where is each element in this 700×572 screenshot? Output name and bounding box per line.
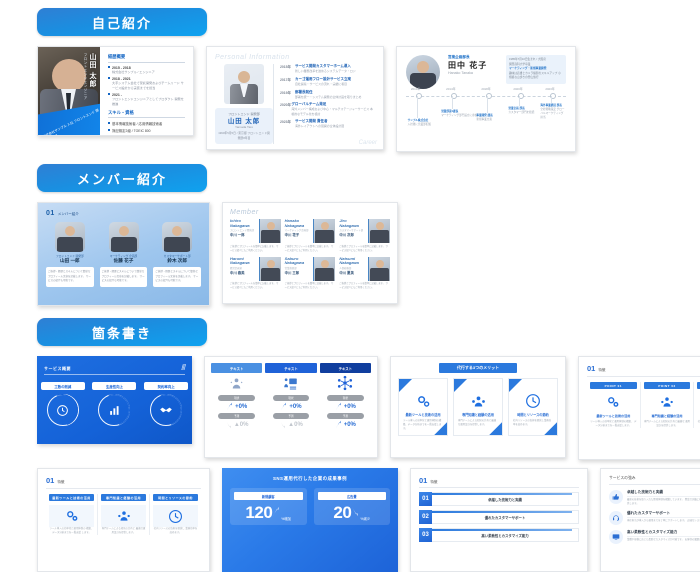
- card-number: 01: [419, 476, 427, 485]
- slide-card-personal-information[interactable]: Personal Information フロントエンド 開発部 山田 太郎 Y…: [206, 46, 384, 150]
- resume-history-item: 2015 - 2018 株式会社サンプル / エンジニア: [108, 66, 185, 75]
- handshake-icon: [150, 394, 182, 426]
- member-photo: [313, 257, 335, 281]
- metric-column[interactable]: テキスト 現状 +0% 予測 +0%: [320, 363, 371, 451]
- item-text: 高い柔軟性とカスタマイズ能力: [436, 533, 574, 538]
- column-header: テキスト: [265, 363, 316, 373]
- timeline-desc: 新しい業務改革を進めるシステムデータ・ロジ: [295, 69, 356, 73]
- watermark-title: Member: [230, 209, 390, 216]
- member-name-en: Ichiro Nakagawa: [230, 219, 257, 228]
- card-heading: 01特徴: [419, 476, 579, 488]
- history-text: 株式会社サンプル / エンジニア: [108, 70, 185, 75]
- point-column[interactable]: POINT 02 専門知識と経験の活用 専門チームによる知見の共有と最適な 運用…: [640, 382, 694, 428]
- member-grid-entry[interactable]: Hanako Nakagawa マーケティング企画部 中川 花子 ご挨拶とプロフ…: [285, 219, 336, 253]
- arrow-up-icon: [226, 402, 233, 411]
- gear-people-icon: [229, 373, 244, 393]
- member-name-ja: 中川 三郎: [285, 270, 312, 275]
- member-photo: [313, 219, 335, 243]
- slide-row-3: サービス概要 /// 工数の削減 生産性向上 契約率向上: [0, 356, 700, 460]
- slide-card-members-three[interactable]: 01メンバー紹介 フロントエンド 開発部 山田 一郎 ご挨拶・経歴とスキルについ…: [37, 202, 210, 306]
- member-photo: [55, 222, 85, 252]
- section-header-member-intro: メンバー紹介: [37, 164, 207, 192]
- member-photo: [109, 222, 139, 252]
- member-name-ja: 中川 花子: [285, 232, 312, 237]
- member-desc: ご挨拶・経歴とスキルについて簡単なプロフィール文章を記載します。 サービスの紹介…: [153, 267, 201, 287]
- slide-card-member-grid[interactable]: Member Ichiro Nakagawa フロントエンド開発部 中川 一郎 …: [222, 202, 398, 304]
- merit-box[interactable]: 専門知識と経験の活用 専門チームによる知見の共有と最適な運用設計を提供します。: [453, 378, 503, 436]
- card-title: 代行する3つのメリット: [439, 363, 517, 373]
- credit-watermark: Career: [359, 140, 377, 146]
- point-text: 専門チームによる知見の共有と最適な 運用設計を提供します。: [644, 420, 691, 428]
- section-header-label: メンバー紹介: [77, 169, 167, 188]
- item-number: 02: [419, 510, 432, 524]
- timeline-year: 2020年: [280, 102, 291, 116]
- card-heading: 01特徴: [587, 364, 700, 377]
- slide-card-career-timeline[interactable]: 営業企画部長 田中 花子 Hanako Tanaka 1985年7月10日生まれ…: [396, 46, 576, 152]
- metric-pill: 現状: [327, 395, 364, 401]
- section-header-label: 箇条書き: [92, 323, 152, 342]
- member-item[interactable]: カスタマーサポート部 鈴木 次郎 ご挨拶・経歴とスキルについて簡単なプロフィール…: [153, 222, 201, 287]
- merit-heading: 最新ツールと技術の活用: [403, 412, 443, 417]
- people-gear-icon: [644, 393, 691, 410]
- skill-item: 基本情報技術者 / 応用情報技術者: [108, 122, 162, 126]
- slide-row-4: 01特徴 最新ツールと技術の活用 ツール導入の効率化と運用体制の 構築、データ分…: [0, 468, 700, 572]
- arrow-down-icon: [351, 506, 359, 517]
- member-photo: [259, 257, 281, 281]
- network-icon: [337, 373, 353, 393]
- monitor-icon: [609, 530, 623, 544]
- resume-history-item: 2021 - フロントエンドエンジニアとしてプロダクト 開発を推進: [108, 93, 185, 106]
- profile-meta: 1990年5月5日 / 東京都 フロントエンド開発歴8年目: [217, 131, 271, 141]
- profile-note-box: 1985年7月10日生まれ / 大阪府 関西商科大学卒業 マーケティング・新規事…: [506, 55, 566, 84]
- people-gear-icon: [101, 505, 146, 527]
- name-en: Yamada Taro: [217, 125, 271, 129]
- timeline-year: 2017年: [280, 77, 295, 86]
- feature-text: ツール導入の効率化と運用体制の 構築、データ分析までを一貫支援 します。: [49, 527, 94, 535]
- metric-value: ▲0%: [279, 420, 303, 429]
- strength-heading: 卓越した技術力と実績: [627, 490, 700, 497]
- point-column[interactable]: POINT 03 時間とリソースの節約 社内リソースの負担を軽減し 業務効率を高…: [693, 382, 700, 428]
- feature-column[interactable]: 最新ツールと技術の活用 ツール導入の効率化と運用体制の 構築、データ分析までを一…: [46, 494, 97, 535]
- member-photo: [368, 219, 390, 243]
- feature-column[interactable]: 専門知識と経験の活用 専門チームによる知見の共有と 最適な運用設計を提供します。: [97, 494, 149, 535]
- metric-pill: 現状: [273, 395, 310, 401]
- timeline-year: 2015年: [280, 64, 295, 73]
- list-item[interactable]: 03 高い柔軟性とカスタマイズ能力: [419, 528, 579, 542]
- card-title: サービスの強み: [609, 476, 700, 485]
- stat-box[interactable]: 新規顧客 120 %増加: [230, 488, 307, 525]
- member-name-ja: 中川 夏美: [339, 270, 366, 275]
- metric-pill: 予測: [327, 413, 364, 419]
- strength-heading: 優れたカスタマーサポート: [627, 511, 700, 518]
- history-text: フロントエンドエンジニアとしてプロダクト 開発を推進: [108, 97, 185, 106]
- axis-year: 2020年: [513, 87, 522, 91]
- member-desc: ご挨拶とプロフィールを簡単に記載します。 サービス紹介にもご利用ください。: [339, 245, 390, 253]
- member-desc: ご挨拶とプロフィールを簡単に記載します。 サービス紹介にもご利用ください。: [339, 282, 390, 290]
- card-heading: 01特徴: [46, 476, 201, 489]
- skill-item: HTML / JavaScript / 各種フレーム: [108, 135, 163, 136]
- resume-panel: 経歴概要 2015 - 2018 株式会社サンプル / エンジニア 2018 -…: [100, 47, 193, 135]
- slide-card-feature-points[interactable]: 01特徴 POINT 01 最新ツールと技術の活用 ツール導入の効率化と運用体制…: [578, 356, 700, 460]
- member-name-en: Hanako Nakagawa: [285, 219, 312, 228]
- stat-value: 120: [245, 505, 272, 521]
- strength-item[interactable]: 卓越した技術力と実績 最新の技術を取り入れた開発体制を構築しています。 豊富な実…: [609, 490, 700, 507]
- timeline-entry: 2019年 部署長就任部署を統一・システム開発の全体計画を取りまとめ: [280, 90, 375, 99]
- avatar: [406, 55, 440, 89]
- merit-heading: 専門知識と経験の活用: [458, 412, 498, 417]
- metric-value: ▲0%: [225, 420, 249, 429]
- section-header-bullets: 箇条書き: [37, 318, 207, 346]
- member-name: 佐藤 花子: [100, 258, 148, 264]
- vertical-name: 山田 太郎: [87, 53, 97, 88]
- stat-unit: %減少: [360, 516, 370, 521]
- slide-card-three-metrics[interactable]: テキスト 現状 +0% 予測 ▲0% テキスト: [204, 356, 378, 458]
- member-name-en: Natsumi Nakagawa: [339, 257, 366, 266]
- card-title: SNS運用代行した企業の成果事例: [230, 476, 390, 482]
- card-heading: 01メンバー紹介: [46, 210, 201, 217]
- strength-item[interactable]: 優れたカスタマーサポート 専任担当が導入から運用までを丁寧にサポートします。 迅…: [609, 511, 700, 525]
- stat-label: 広告費: [318, 492, 387, 500]
- slide-row-2: 01メンバー紹介 フロントエンド 開発部 山田 一郎 ご挨拶・経歴とスキルについ…: [0, 202, 700, 306]
- member-desc: ご挨拶とプロフィールを簡単に記載します。 サービス紹介にもご利用ください。: [230, 245, 281, 253]
- profile-photo: フロントエンドエンジニア 山田 太郎 株式会社サンプル 入社 フロントエンド 開…: [38, 47, 100, 135]
- member-name-ja: 中川 春美: [230, 270, 257, 275]
- column-header: テキスト: [320, 363, 371, 373]
- resume-section-title-1: 経歴概要: [108, 54, 185, 63]
- member-grid-entry[interactable]: Ichiro Nakagawa フロントエンド開発部 中川 一郎 ご挨拶とプロフ…: [230, 219, 281, 253]
- member-item[interactable]: フロントエンド 開発部 山田 一郎 ご挨拶・経歴とスキルについて簡単なプロフィー…: [46, 222, 94, 287]
- member-item[interactable]: マーケティング 企画部 佐藤 花子 ご挨拶・経歴とスキルについて簡単なプロフィー…: [100, 222, 148, 287]
- name-ja: 田中 花子: [448, 60, 487, 71]
- item-label: 契約率向上: [144, 382, 188, 390]
- clock-icon: [153, 505, 198, 527]
- axis-year: 2018年: [481, 87, 490, 91]
- timeline-entry: 2017年 カーゴ運用フロー設計サービス立案自社提案・サービスの流れ・実績に着目: [280, 77, 375, 86]
- timeline-event: 営業部第1課長マーケティング部門設立に参加: [441, 110, 477, 118]
- people-gear-icon: [458, 393, 498, 409]
- member-grid-entry[interactable]: Saburo Nakagawa 営業推進部 中川 三郎 ご挨拶とプロフィールを簡…: [285, 257, 336, 291]
- timeline-entry: 2015年 サービス開発カスタマーホーム導入新しい業務改革を進めるシステムデータ…: [280, 64, 375, 73]
- point-text: ツール導入の効率化と運用体制の構築、 データ分析までを一貫支援します。: [590, 420, 637, 428]
- profile-photo: [224, 64, 264, 104]
- merit-heading: 時間とリソースの節約: [513, 412, 553, 417]
- note-line: 趣味は読書とカメラ撮影のスキルアップ 小規模な山歩きの登山旅行: [509, 72, 563, 81]
- slide-card-numbered-list[interactable]: 01特徴 01 卓越した技術力と実績 02 優れたカスタマーサポート 03 高い…: [410, 468, 588, 572]
- point-column[interactable]: POINT 01 最新ツールと技術の活用 ツール導入の効率化と運用体制の構築、 …: [587, 382, 640, 428]
- timeline-event: 事業開発 課長新規事業立案: [476, 114, 492, 122]
- resume-section-title-2: スキル・資格: [108, 110, 185, 119]
- timeline-axis: 2010年 2014年 2018年 2020年 2023年 サンプル株式会社入社…: [406, 96, 566, 128]
- merit-box[interactable]: 最新ツールと技術の活用 ツール導入の効率化と運用体制の構築、データ分析までを一貫…: [398, 378, 448, 436]
- summary-item[interactable]: 契約率向上: [144, 382, 188, 426]
- member-desc: ご挨拶・経歴とスキルについて簡単なプロフィール文章を記載します。 サービスの紹介…: [100, 267, 148, 287]
- slide-card-sns-results[interactable]: SNS運用代行した企業の成果事例 新規顧客 120 %増加 広告費 20 %減: [222, 468, 398, 572]
- point-tag: POINT 02: [644, 382, 691, 389]
- metric-pill: 現状: [218, 395, 255, 401]
- gear-icon: [49, 505, 94, 527]
- resume-history-item: 2018 - 2021 大手システム会社で受託開発およびチームリード サービス設…: [108, 77, 185, 90]
- merit-text: ツール導入の効率化と運用体制の構築、データ分析までを一貫支援します。: [403, 419, 443, 431]
- strength-item[interactable]: 高い柔軟性とカスタマイズ能力 業種や規模に応じた柔軟なカスタマイズが可能です。 …: [609, 530, 700, 544]
- thumbs-up-icon: [609, 490, 623, 504]
- feature-column[interactable]: 時間とリソースの節約 社内リソースの負担を軽減し 業務効率を高めます。: [149, 494, 201, 535]
- metric-value: +0%: [226, 402, 247, 411]
- merit-text: 専門チームによる知見の共有と最適な運用設計を提供します。: [458, 419, 498, 427]
- member-name-en: Harumi Nakagawa: [230, 257, 257, 266]
- resume-skills: 基本情報技術者 / 応用情報技術者 簿記検定2級 / TOEIC 800 HTM…: [108, 121, 185, 136]
- card-number: 01: [46, 210, 55, 217]
- slide-card-service-summary[interactable]: サービス概要 /// 工数の削減 生産性向上 契約率向上: [37, 356, 192, 444]
- member-photo: [259, 219, 281, 243]
- decorative-slashes: ///: [181, 363, 185, 372]
- member-desc: ご挨拶とプロフィールを簡単に記載します。 サービス紹介にもご利用ください。: [285, 282, 336, 290]
- card-number: 01: [46, 476, 54, 485]
- timeline-desc: 部署を統一・システム開発の全体計画を取りまとめ: [295, 95, 361, 99]
- card-title: サービス概要: [44, 366, 71, 372]
- metric-column[interactable]: テキスト 現状 +0% 予測 ▲0%: [211, 363, 262, 451]
- arrow-up-icon: [280, 402, 287, 411]
- arrow-down-icon: [225, 420, 232, 429]
- timeline-event: サンプル株式会社入社後に営業部配属: [408, 119, 431, 127]
- timeline-desc: 海外レイアウトへの展開の全体設計図: [295, 124, 344, 128]
- merit-text: 社内リソースの負担を軽減し業務効率を高めます。: [513, 419, 553, 427]
- point-tag: POINT 01: [590, 382, 637, 389]
- section-header-self-intro: 自己紹介: [37, 8, 207, 36]
- timeline-event: 海外事業統括 部長全社戦略策定 グローバルマーケティング担当: [540, 104, 566, 121]
- stat-label: 新規顧客: [234, 492, 303, 500]
- member-name-ja: 中川 次郎: [339, 232, 366, 237]
- clock-icon: [513, 393, 553, 409]
- item-text: 優れたカスタマーサポート: [436, 515, 574, 520]
- member-name: 鈴木 次郎: [153, 258, 201, 264]
- slide-card-profile-resume[interactable]: フロントエンドエンジニア 山田 太郎 株式会社サンプル 入社 フロントエンド 開…: [37, 46, 194, 136]
- card-label: メンバー紹介: [58, 212, 79, 216]
- metric-column[interactable]: テキスト 現状 +0% 予測 ▲0%: [265, 363, 316, 451]
- bar-chart-icon: [98, 394, 130, 426]
- name-ja: 山田 太郎: [217, 116, 271, 125]
- item-number: 03: [419, 528, 432, 542]
- item-label: 工数の削減: [41, 382, 85, 390]
- support-icon: [609, 511, 623, 525]
- merit-box[interactable]: 時間とリソースの節約 社内リソースの負担を軽減し業務効率を高めます。: [508, 378, 558, 436]
- gear-icon: [403, 393, 443, 409]
- strength-heading: 高い柔軟性とカスタマイズ能力: [627, 530, 700, 537]
- column-header: テキスト: [211, 363, 262, 373]
- card-label: 特徴: [57, 480, 64, 484]
- strength-text: 最新の技術を取り入れた開発体制を構築しています。 豊富な実績に基づき、課題のヒア…: [627, 498, 700, 507]
- stat-box[interactable]: 広告費 20 %減少: [314, 488, 391, 525]
- member-name-ja: 中川 一郎: [230, 232, 257, 237]
- member-grid-entry[interactable]: Natsumi Nakagawa 人事総務部 中川 夏美 ご挨拶とプロフィールを…: [339, 257, 390, 291]
- career-timeline-list: 2015年 サービス開発カスタマーホーム導入新しい業務改革を進めるシステムデータ…: [273, 64, 375, 144]
- member-name-en: Jiro Nakagawa: [339, 219, 366, 228]
- clock-icon: [47, 394, 79, 426]
- member-name: 山田 一郎: [46, 258, 94, 264]
- item-label: 生産性向上: [92, 382, 136, 390]
- arrow-up-icon: [335, 402, 342, 411]
- timeline-entry: 2023年 サービス開発 責任者海外レイアウトへの展開の全体設計図: [280, 119, 375, 128]
- feature-text: 専門チームによる知見の共有と 最適な運用設計を提供します。: [101, 527, 146, 535]
- timeline-desc: 自社提案・サービスの流れ・実績に着目: [295, 82, 351, 86]
- strength-text: 業種や規模に応じた柔軟なカスタマイズが可能です。 お客様の課題に合わせて最適な機…: [627, 538, 700, 542]
- timeline-desc: 海外メンバー構成および中心・マルチステージャーサービス 本格的なモデル化を検討: [291, 107, 375, 116]
- history-text: 大手システム会社で受託開発およびチームリード サービス設計から実装までを担当: [108, 81, 185, 90]
- summary-item[interactable]: 工数の削減: [41, 382, 85, 426]
- slide-card-feature-boxed[interactable]: 01特徴 最新ツールと技術の活用 ツール導入の効率化と運用体制の 構築、データ分…: [37, 468, 210, 572]
- arrow-up-icon: [335, 420, 342, 429]
- member-grid-entry[interactable]: Jiro Nakagawa カスタマーサポート部 中川 次郎 ご挨拶とプロフィー…: [339, 219, 390, 253]
- metric-value: +0%: [335, 402, 356, 411]
- member-name-en: Saburo Nakagawa: [285, 257, 312, 266]
- card-label: 特徴: [598, 368, 605, 372]
- name-en: Hanako Tanaka: [448, 71, 487, 75]
- stat-value: 20: [333, 505, 351, 521]
- axis-year: 2014年: [446, 87, 455, 91]
- member-grid-entry[interactable]: Harumi Nakagawa 経営企画室 中川 春美 ご挨拶とプロフィールを簡…: [230, 257, 281, 291]
- axis-year: 2023年: [545, 87, 554, 91]
- feature-text: 社内リソースの負担を軽減し 業務効率を高めます。: [153, 527, 198, 535]
- name-card: フロントエンド 開発部 山田 太郎 Yamada Taro 1990年5月5日 …: [215, 108, 273, 144]
- gallery-page: 自己紹介 フロントエンドエンジニア 山田 太郎 株式会社サンプル 入社 フロント…: [0, 0, 700, 500]
- slide-card-three-merits[interactable]: 代行する3つのメリット 最新ツールと技術の活用 ツール導入の効率化と運用体制の構…: [390, 356, 566, 458]
- arrow-up-icon: [272, 506, 280, 517]
- member-desc: ご挨拶・経歴とスキルについて簡単なプロフィール文章を記載します。 サービスの紹介…: [46, 267, 94, 287]
- skill-item: 簿記検定2級 / TOEIC 800: [108, 129, 151, 133]
- point-heading: 最新ツールと技術の活用: [590, 413, 637, 418]
- metric-value: +0%: [335, 420, 356, 429]
- strength-text: 専任担当が導入から運用までを丁寧にサポートします。 迅速なレスポンスと柔軟な対応…: [627, 519, 700, 523]
- card-number: 01: [587, 364, 595, 373]
- item-number: 01: [419, 492, 432, 506]
- section-header-label: 自己紹介: [92, 13, 152, 32]
- timeline-year: 2023年: [280, 119, 295, 128]
- slide-card-strengths[interactable]: サービスの強み 卓越した技術力と実績 最新の技術を取り入れた開発体制を構築してい…: [600, 468, 700, 572]
- metric-pill: 予測: [273, 413, 310, 419]
- list-item[interactable]: 01 卓越した技術力と実績: [419, 492, 579, 506]
- member-photo: [368, 257, 390, 281]
- member-desc: ご挨拶とプロフィールを簡単に記載します。 サービス紹介にもご利用ください。: [285, 245, 336, 253]
- axis-year: 2010年: [411, 87, 420, 91]
- metric-value: +0%: [280, 402, 301, 411]
- timeline-entry: 2020年 グローバルチーム発足海外メンバー構成および中心・マルチステージャーサ…: [280, 102, 375, 116]
- arrow-down-icon: [279, 420, 286, 429]
- list-item[interactable]: 02 優れたカスタマーサポート: [419, 510, 579, 524]
- member-photo: [162, 222, 192, 252]
- timeline-year: 2019年: [280, 90, 295, 99]
- card-label: 特徴: [430, 480, 437, 484]
- point-heading: 専門知識と経験の活用: [644, 413, 691, 418]
- slide-row-1: フロントエンドエンジニア 山田 太郎 株式会社サンプル 入社 フロントエンド 開…: [0, 46, 700, 152]
- metric-pill: 予測: [218, 413, 255, 419]
- timeline-event: 営業企画 部長カスタマー部門を統括: [508, 107, 534, 115]
- stat-unit: %増加: [281, 516, 291, 521]
- member-desc: ご挨拶とプロフィールを簡単に記載します。 サービス紹介にもご利用ください。: [230, 282, 281, 290]
- gear-icon: [590, 393, 637, 410]
- summary-item[interactable]: 生産性向上: [92, 382, 136, 426]
- profile-left-column: フロントエンド 開発部 山田 太郎 Yamada Taro 1990年5月5日 …: [215, 64, 273, 144]
- photo-head: [52, 59, 86, 93]
- watermark-title: Personal Information: [215, 54, 375, 61]
- presentation-icon: [283, 373, 298, 393]
